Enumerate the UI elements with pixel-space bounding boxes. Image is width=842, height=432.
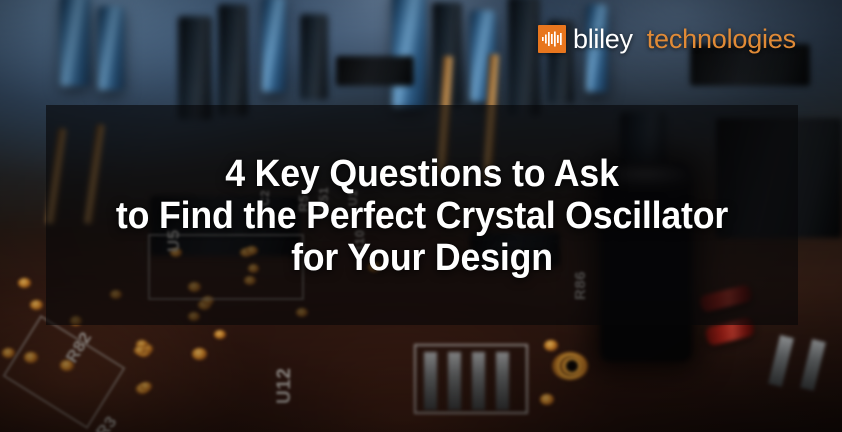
- page-title: 4 Key Questions to Ask to Find the Perfe…: [46, 153, 798, 279]
- solder-pad: [134, 346, 146, 355]
- capacitor-dark: [178, 16, 212, 120]
- solder-pad: [540, 394, 554, 405]
- capacitor-blue: [60, 0, 90, 86]
- capacitor-dark: [508, 0, 540, 116]
- solder-pad: [188, 312, 200, 321]
- silkscreen-label: U12: [274, 368, 296, 404]
- solder-pad: [544, 340, 558, 351]
- solder-pad: [2, 348, 15, 358]
- solder-pad: [70, 316, 82, 326]
- audio-waveform-icon: [538, 25, 566, 53]
- solder-pad: [30, 300, 43, 310]
- solder-pad: [296, 308, 308, 317]
- solder-pad: [192, 348, 207, 360]
- blog-header-banner: U5 U12 R82 R86 R5 R51 C2 U1 110 R3 4 Key…: [0, 0, 842, 432]
- capacitor-blue: [98, 6, 124, 90]
- capacitor-blue: [392, 0, 426, 108]
- title-line-2: to Find the Perfect Crystal Oscillator: [69, 195, 776, 237]
- brand-logo[interactable]: bliley technologies: [538, 22, 796, 56]
- capacitor-blue: [262, 0, 286, 92]
- solder-pad: [18, 278, 31, 288]
- solder-pad: [140, 382, 152, 391]
- solder-pad-ring: [560, 356, 584, 376]
- brand-tagline: technologies: [647, 25, 796, 53]
- capacitor-dark: [218, 4, 248, 116]
- integrated-circuit: [336, 56, 414, 86]
- brand-name: bliley: [573, 25, 633, 53]
- title-line-3: for Your Design: [69, 237, 776, 279]
- solder-pad: [214, 330, 226, 339]
- title-line-1: 4 Key Questions to Ask: [69, 153, 776, 195]
- dip-switch-bank: [414, 344, 528, 414]
- solder-pad: [110, 290, 122, 299]
- capacitor-dark: [300, 14, 328, 100]
